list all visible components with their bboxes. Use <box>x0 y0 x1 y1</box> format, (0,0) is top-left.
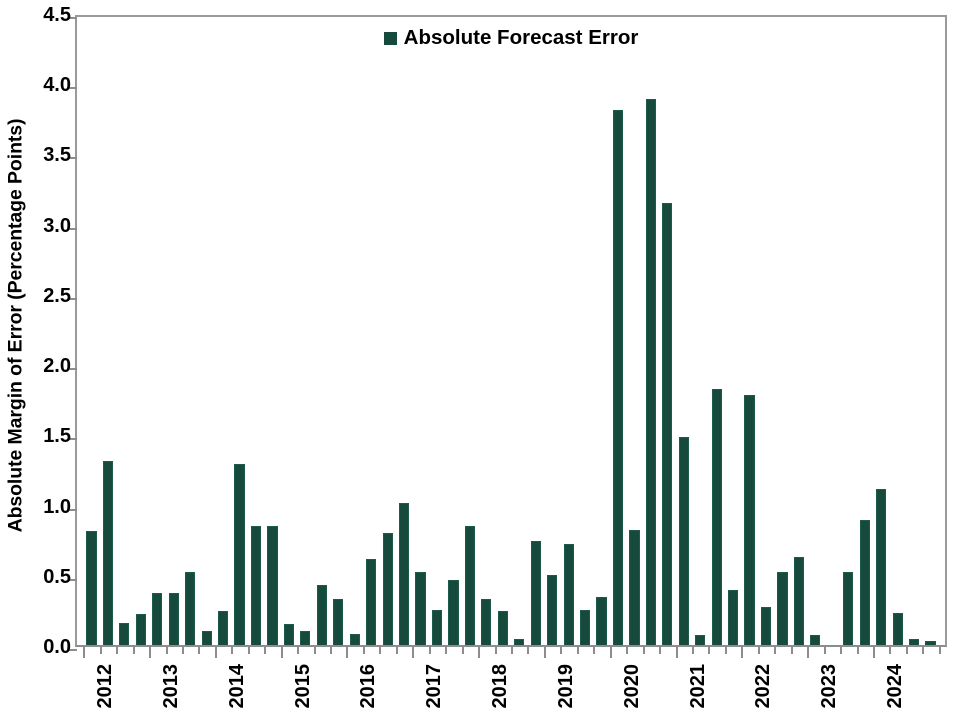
bar <box>596 597 606 645</box>
x-tick-mark <box>791 645 793 654</box>
y-tick-label: 1.0 <box>43 497 71 517</box>
bar <box>860 520 870 645</box>
legend-label: Absolute Forecast Error <box>404 26 639 50</box>
bar <box>136 614 146 645</box>
x-tick-mark-major <box>281 645 283 658</box>
x-tick-label: 2014 <box>227 664 247 709</box>
x-tick-mark <box>708 645 710 654</box>
bar <box>876 489 886 645</box>
x-tick-mark-major <box>741 645 743 658</box>
bar <box>234 464 244 645</box>
bar <box>777 572 787 645</box>
bar <box>514 639 524 645</box>
bar <box>415 572 425 645</box>
bar <box>498 611 508 645</box>
y-tick-label: 2.0 <box>43 356 71 376</box>
bar <box>843 572 853 645</box>
y-tick-label: 3.0 <box>43 216 71 236</box>
y-tick-label: 3.5 <box>43 145 71 165</box>
bar <box>925 641 935 645</box>
x-tick-mark <box>626 645 628 654</box>
x-tick-label: 2012 <box>95 664 115 709</box>
x-tick-mark-major <box>215 645 217 658</box>
x-tick-mark <box>889 645 891 654</box>
x-tick-mark <box>643 645 645 654</box>
y-axis-title: Absolute Margin of Error (Percentage Poi… <box>5 118 28 532</box>
x-tick-mark <box>527 645 529 654</box>
y-tick-label: 4.5 <box>43 5 71 25</box>
bar <box>333 599 343 645</box>
x-tick-mark <box>264 645 266 654</box>
x-tick-mark <box>379 645 381 654</box>
bar <box>251 526 261 645</box>
x-tick-mark-major <box>610 645 612 658</box>
x-tick-mark <box>511 645 513 654</box>
x-tick-label: 2020 <box>622 664 642 709</box>
bar <box>185 572 195 645</box>
bar <box>119 623 129 645</box>
x-tick-mark <box>133 645 135 654</box>
x-tick-label: 2018 <box>490 664 510 709</box>
x-tick-label: 2017 <box>424 664 444 709</box>
x-tick-label: 2023 <box>819 664 839 709</box>
x-tick-mark-major <box>412 645 414 658</box>
x-tick-mark <box>725 645 727 654</box>
x-tick-mark <box>462 645 464 654</box>
bar <box>169 593 179 645</box>
x-tick-label: 2016 <box>358 664 378 709</box>
y-axis-title-container: Absolute Margin of Error (Percentage Poi… <box>0 0 32 650</box>
bar <box>761 607 771 645</box>
bar <box>662 203 672 645</box>
x-tick-mark <box>939 645 941 654</box>
y-tick-label: 2.5 <box>43 286 71 306</box>
bar <box>531 541 541 645</box>
x-tick-mark <box>906 645 908 654</box>
bar <box>744 395 754 645</box>
bar <box>613 110 623 645</box>
x-tick-mark <box>445 645 447 654</box>
bar <box>202 631 212 645</box>
x-tick-mark <box>758 645 760 654</box>
bar <box>679 437 689 645</box>
x-tick-mark <box>577 645 579 654</box>
bar <box>267 526 277 645</box>
x-tick-mark <box>116 645 118 654</box>
x-tick-mark <box>824 645 826 654</box>
bar <box>794 557 804 645</box>
bar <box>712 389 722 645</box>
bar <box>629 530 639 645</box>
x-tick-mark <box>314 645 316 654</box>
x-tick-mark-major <box>676 645 678 658</box>
x-tick-mark <box>363 645 365 654</box>
bar <box>284 624 294 645</box>
bar <box>646 99 656 645</box>
bar <box>399 503 409 645</box>
bar <box>465 526 475 645</box>
x-tick-label: 2022 <box>753 664 773 709</box>
x-tick-mark <box>560 645 562 654</box>
x-tick-label: 2024 <box>885 664 905 709</box>
x-tick-mark-major <box>478 645 480 658</box>
bar <box>909 639 919 645</box>
bar <box>547 575 557 645</box>
x-tick-label: 2013 <box>161 664 181 709</box>
bar <box>383 533 393 645</box>
bar <box>481 599 491 645</box>
plot-area: 0.00.51.01.52.02.53.03.54.04.5 Absolute … <box>75 15 947 647</box>
bar <box>564 544 574 645</box>
x-tick-label: 2019 <box>556 664 576 709</box>
legend-swatch-icon <box>384 32 397 45</box>
bar <box>728 590 738 645</box>
x-tick-mark-major <box>544 645 546 658</box>
x-tick-mark <box>429 645 431 654</box>
x-tick-mark <box>857 645 859 654</box>
x-tick-mark <box>840 645 842 654</box>
bar <box>366 559 376 645</box>
x-tick-mark <box>659 645 661 654</box>
x-tick-mark <box>922 645 924 654</box>
bar <box>152 593 162 645</box>
x-tick-mark <box>166 645 168 654</box>
x-tick-mark-major <box>83 645 85 658</box>
x-tick-mark-major <box>346 645 348 658</box>
y-tick-label: 0.0 <box>43 637 71 657</box>
y-tick-label: 4.0 <box>43 75 71 95</box>
bar <box>350 634 360 645</box>
x-tick-mark <box>692 645 694 654</box>
x-tick-mark-major <box>873 645 875 658</box>
y-tick-label: 1.5 <box>43 426 71 446</box>
x-tick-mark <box>248 645 250 654</box>
bar <box>432 610 442 645</box>
bar <box>103 461 113 645</box>
x-tick-mark-major <box>149 645 151 658</box>
x-tick-mark <box>330 645 332 654</box>
x-tick-mark <box>231 645 233 654</box>
x-axis-labels: 2012201320142015201620172018201920202021… <box>75 664 947 717</box>
chart-legend: Absolute Forecast Error <box>77 26 945 50</box>
bar <box>695 635 705 645</box>
x-tick-mark <box>100 645 102 654</box>
x-tick-mark <box>593 645 595 654</box>
x-tick-mark <box>396 645 398 654</box>
bar <box>580 610 590 645</box>
chart-page: Absolute Margin of Error (Percentage Poi… <box>0 0 975 717</box>
x-tick-mark <box>495 645 497 654</box>
x-tick-label: 2021 <box>688 664 708 709</box>
bar <box>300 631 310 645</box>
bar <box>317 585 327 645</box>
x-tick-label: 2015 <box>293 664 313 709</box>
bar <box>86 531 96 645</box>
x-tick-mark <box>198 645 200 654</box>
bar <box>893 613 903 645</box>
bar <box>448 580 458 645</box>
bar <box>218 611 228 645</box>
x-tick-mark <box>182 645 184 654</box>
x-tick-mark-major <box>807 645 809 658</box>
x-tick-mark <box>774 645 776 654</box>
y-tick-label: 0.5 <box>43 567 71 587</box>
bar <box>810 635 820 645</box>
x-tick-mark <box>297 645 299 654</box>
